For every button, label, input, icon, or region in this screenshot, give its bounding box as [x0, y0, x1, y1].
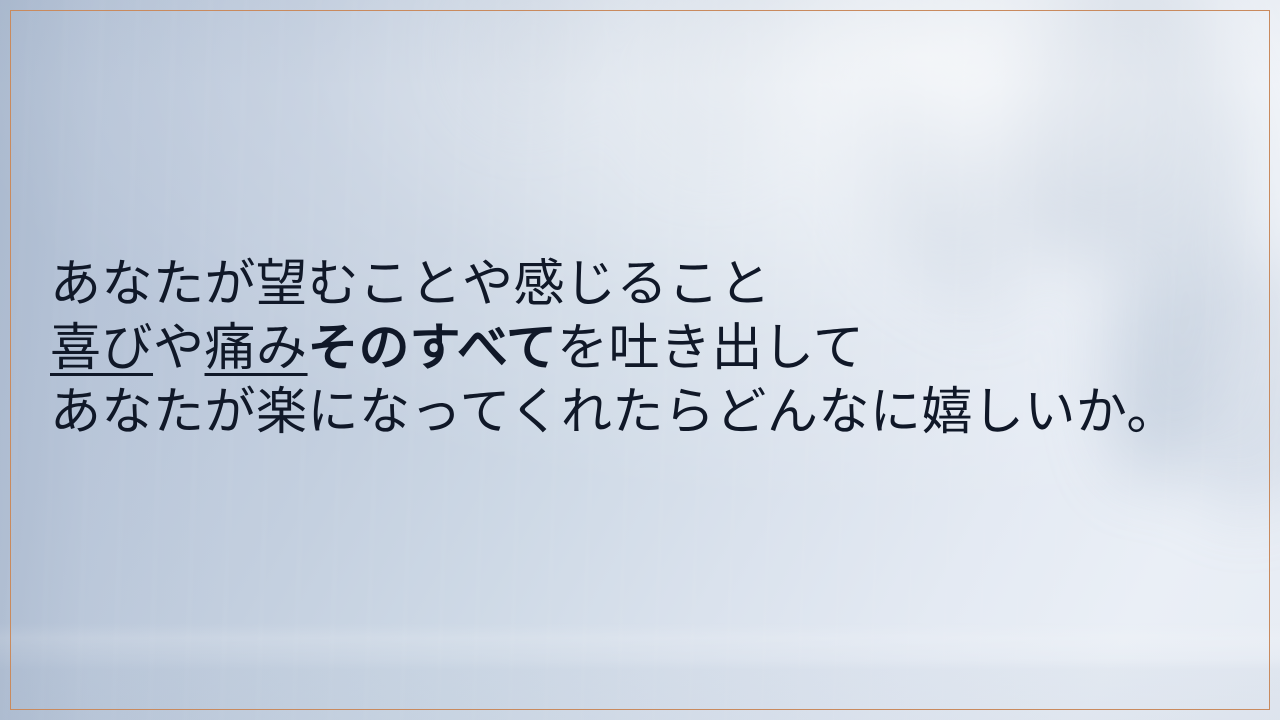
blur-blob	[456, 0, 605, 131]
quote-text-block: あなたが望むことや感じること 喜びや痛みそのすべてを吐き出して あなたが楽になっ…	[50, 252, 1240, 444]
quote-line-2-conjunction: や	[153, 319, 205, 376]
blur-blob	[968, 0, 1241, 282]
quote-line-2: 喜びや痛みそのすべてを吐き出して	[50, 316, 1240, 380]
quote-line-3-text: あなたが楽になってくれたらどんなに嬉しいか。	[50, 383, 1178, 440]
blur-blob	[617, 0, 853, 191]
quote-emphasis-joy-underlined: 喜び	[50, 319, 153, 376]
quote-line-3: あなたが楽になってくれたらどんなに嬉しいか。	[50, 380, 1240, 444]
quote-line-1-text: あなたが望むことや感じること	[50, 255, 771, 312]
blur-blob	[831, 20, 998, 289]
quote-line-2-tail: を吐き出して	[557, 319, 864, 376]
quote-emphasis-all-bold: そのすべて	[308, 319, 557, 376]
quote-slide: あなたが望むことや感じること 喜びや痛みそのすべてを吐き出して あなたが楽になっ…	[0, 0, 1280, 720]
quote-line-1: あなたが望むことや感じること	[50, 252, 1240, 316]
quote-emphasis-pain-underlined: 痛み	[205, 319, 308, 376]
